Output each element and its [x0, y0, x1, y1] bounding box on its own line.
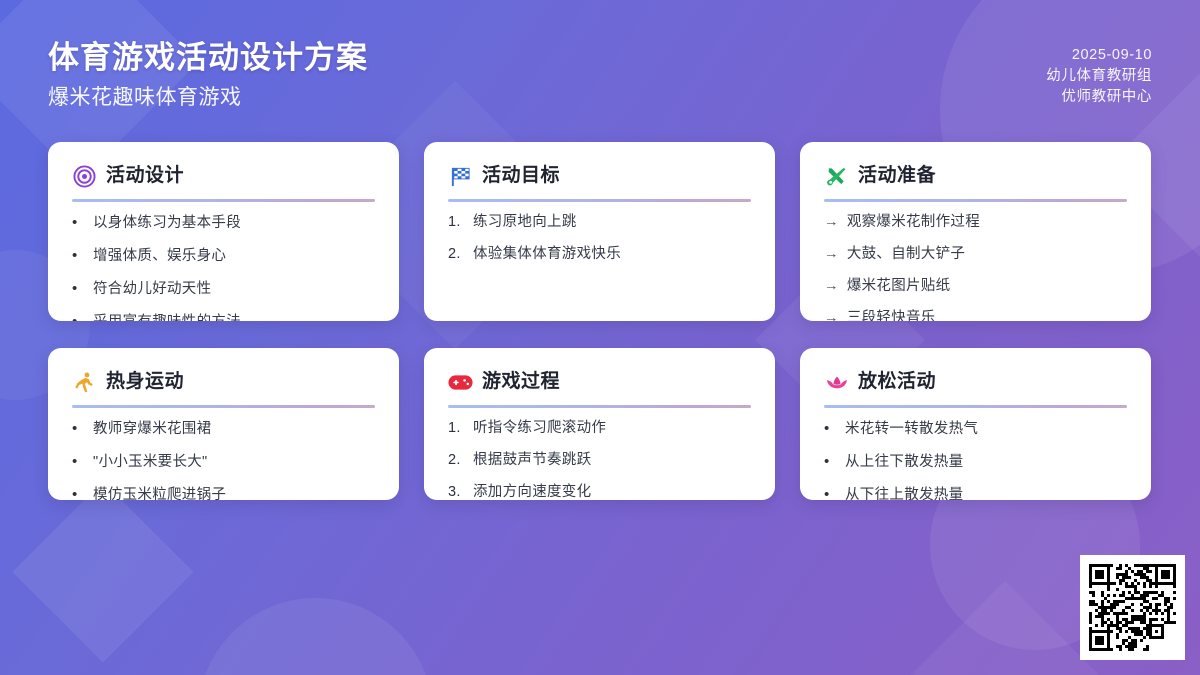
runner-icon	[72, 370, 97, 395]
bullet-marker: •	[824, 419, 837, 438]
list-item-text: 大鼓、自制大铲子	[847, 245, 1127, 264]
list-item: •采用富有趣味性的方法	[72, 312, 375, 321]
card-warm-up[interactable]: 热身运动 •教师穿爆米花围裙 •"小小玉米要长大" •模仿玉米粒爬进锅子	[48, 348, 399, 500]
list-item-text: 根据鼓声节奏跳跃	[473, 451, 751, 470]
list-item: •符合幼儿好动天性	[72, 279, 375, 299]
card-title: 热身运动	[106, 369, 184, 395]
list-item-text: 米花转一转散发热气	[845, 420, 1127, 439]
number-marker: 3.	[448, 483, 465, 500]
card-title: 活动目标	[482, 163, 560, 189]
card-divider	[824, 405, 1127, 408]
list-item: •以身体练习为基本手段	[72, 213, 375, 233]
list-item-text: 爆米花图片贴纸	[847, 277, 1127, 296]
card-body: •教师穿爆米花围裙 •"小小玉米要长大" •模仿玉米粒爬进锅子	[72, 419, 375, 500]
list-item-text: 听指令练习爬滚动作	[473, 419, 751, 438]
qr-code[interactable]	[1080, 555, 1185, 660]
bullet-marker: •	[824, 485, 837, 500]
list-item: 1.练习原地向上跳	[448, 213, 751, 232]
page-title: 体育游戏活动设计方案	[48, 38, 368, 78]
card-title: 活动准备	[858, 163, 936, 189]
number-marker: 2.	[448, 245, 465, 264]
list-item-text: "小小玉米要长大"	[93, 453, 375, 472]
header-left-group: 体育游戏活动设计方案 爆米花趣味体育游戏	[48, 38, 368, 114]
card-title: 活动设计	[106, 163, 184, 189]
card-body: •以身体练习为基本手段 •增强体质、娱乐身心 •符合幼儿好动天性 •采用富有趣味…	[72, 213, 375, 321]
list-item: →观察爆米花制作过程	[824, 213, 1127, 232]
page-subtitle: 爆米花趣味体育游戏	[48, 82, 368, 114]
list-item: 2.体验集体体育游戏快乐	[448, 245, 751, 264]
card-activity-preparation[interactable]: 活动准备 →观察爆米花制作过程 →大鼓、自制大铲子 →爆米花图片贴纸 →三段轻快…	[800, 142, 1151, 321]
card-body: 1.练习原地向上跳 2.体验集体体育游戏快乐	[448, 213, 751, 264]
card-activity-goal[interactable]: 活动目标 1.练习原地向上跳 2.体验集体体育游戏快乐	[424, 142, 775, 321]
list-item: •"小小玉米要长大"	[72, 452, 375, 472]
bullet-marker: •	[72, 485, 85, 500]
list-item: •从上往下散发热量	[824, 452, 1127, 472]
card-divider	[824, 199, 1127, 202]
list-item-text: 教师穿爆米花围裙	[93, 420, 375, 439]
bullet-marker: •	[72, 419, 85, 438]
decorative-diamond-bottom-left	[12, 481, 193, 662]
list-item-text: 从上往下散发热量	[845, 453, 1127, 472]
bullet-marker: •	[72, 452, 85, 471]
list-item-text: 增强体质、娱乐身心	[93, 247, 375, 266]
card-body: 1.听指令练习爬滚动作 2.根据鼓声节奏跳跃 3.添加方向速度变化	[448, 419, 751, 500]
arrow-marker: →	[824, 277, 839, 296]
card-divider	[448, 199, 751, 202]
list-item: •模仿玉米粒爬进锅子	[72, 485, 375, 500]
bullet-marker: •	[824, 452, 837, 471]
bullet-marker: •	[72, 246, 85, 265]
list-item-text: 模仿玉米粒爬进锅子	[93, 486, 375, 500]
header-org: 幼儿体育教研组	[1046, 66, 1152, 87]
list-item-text: 以身体练习为基本手段	[93, 214, 375, 233]
list-item: →大鼓、自制大铲子	[824, 245, 1127, 264]
tools-icon	[824, 164, 849, 189]
list-item-text: 体验集体体育游戏快乐	[473, 245, 751, 264]
card-divider	[448, 405, 751, 408]
card-divider	[72, 405, 375, 408]
card-header: 放松活动	[824, 367, 1127, 397]
list-item: →三段轻快音乐	[824, 309, 1127, 321]
header-date: 2025-09-10	[1072, 45, 1152, 66]
card-header: 活动设计	[72, 161, 375, 191]
card-header: 热身运动	[72, 367, 375, 397]
card-title: 游戏过程	[482, 369, 560, 395]
lotus-icon	[824, 370, 849, 395]
bullet-marker: •	[72, 279, 85, 298]
list-item-text: 三段轻快音乐	[847, 309, 1127, 321]
card-title: 放松活动	[858, 369, 936, 395]
arrow-marker: →	[824, 245, 839, 264]
list-item: 3.添加方向速度变化	[448, 483, 751, 500]
card-body: •米花转一转散发热气 •从上往下散发热量 •从下往上散发热量	[824, 419, 1127, 500]
list-item-text: 练习原地向上跳	[473, 213, 751, 232]
card-header: 活动目标	[448, 161, 751, 191]
list-item: →爆米花图片贴纸	[824, 277, 1127, 296]
card-activity-design[interactable]: 活动设计 •以身体练习为基本手段 •增强体质、娱乐身心 •符合幼儿好动天性 •采…	[48, 142, 399, 321]
header-center: 优师教研中心	[1061, 87, 1152, 108]
list-item-text: 符合幼儿好动天性	[93, 280, 375, 299]
decorative-circle-bottom-left	[198, 598, 433, 675]
qr-code-image	[1089, 564, 1176, 651]
list-item: 2.根据鼓声节奏跳跃	[448, 451, 751, 470]
card-game-process[interactable]: 游戏过程 1.听指令练习爬滚动作 2.根据鼓声节奏跳跃 3.添加方向速度变化	[424, 348, 775, 500]
number-marker: 1.	[448, 419, 465, 438]
number-marker: 1.	[448, 213, 465, 232]
arrow-marker: →	[824, 213, 839, 232]
checkered-flag-icon	[448, 164, 473, 189]
number-marker: 2.	[448, 451, 465, 470]
game-controller-icon	[448, 370, 473, 395]
list-item-text: 采用富有趣味性的方法	[93, 313, 375, 321]
card-header: 游戏过程	[448, 367, 751, 397]
slide-header: 体育游戏活动设计方案 爆米花趣味体育游戏 2025-09-10 幼儿体育教研组 …	[0, 0, 1200, 135]
header-meta-group: 2025-09-10 幼儿体育教研组 优师教研中心	[1046, 38, 1152, 108]
card-grid: 活动设计 •以身体练习为基本手段 •增强体质、娱乐身心 •符合幼儿好动天性 •采…	[48, 142, 1152, 500]
bullet-marker: •	[72, 213, 85, 232]
card-header: 活动准备	[824, 161, 1127, 191]
list-item: •从下往上散发热量	[824, 485, 1127, 500]
card-relaxation[interactable]: 放松活动 •米花转一转散发热气 •从上往下散发热量 •从下往上散发热量	[800, 348, 1151, 500]
card-divider	[72, 199, 375, 202]
list-item: •增强体质、娱乐身心	[72, 246, 375, 266]
list-item: 1.听指令练习爬滚动作	[448, 419, 751, 438]
list-item-text: 添加方向速度变化	[473, 483, 751, 500]
card-body: →观察爆米花制作过程 →大鼓、自制大铲子 →爆米花图片贴纸 →三段轻快音乐	[824, 213, 1127, 321]
list-item-text: 从下往上散发热量	[845, 486, 1127, 500]
list-item-text: 观察爆米花制作过程	[847, 213, 1127, 232]
slide-root: 体育游戏活动设计方案 爆米花趣味体育游戏 2025-09-10 幼儿体育教研组 …	[0, 0, 1200, 675]
list-item: •教师穿爆米花围裙	[72, 419, 375, 439]
bullet-marker: •	[72, 312, 85, 321]
list-item: •米花转一转散发热气	[824, 419, 1127, 439]
target-icon	[72, 164, 97, 189]
arrow-marker: →	[824, 309, 839, 321]
